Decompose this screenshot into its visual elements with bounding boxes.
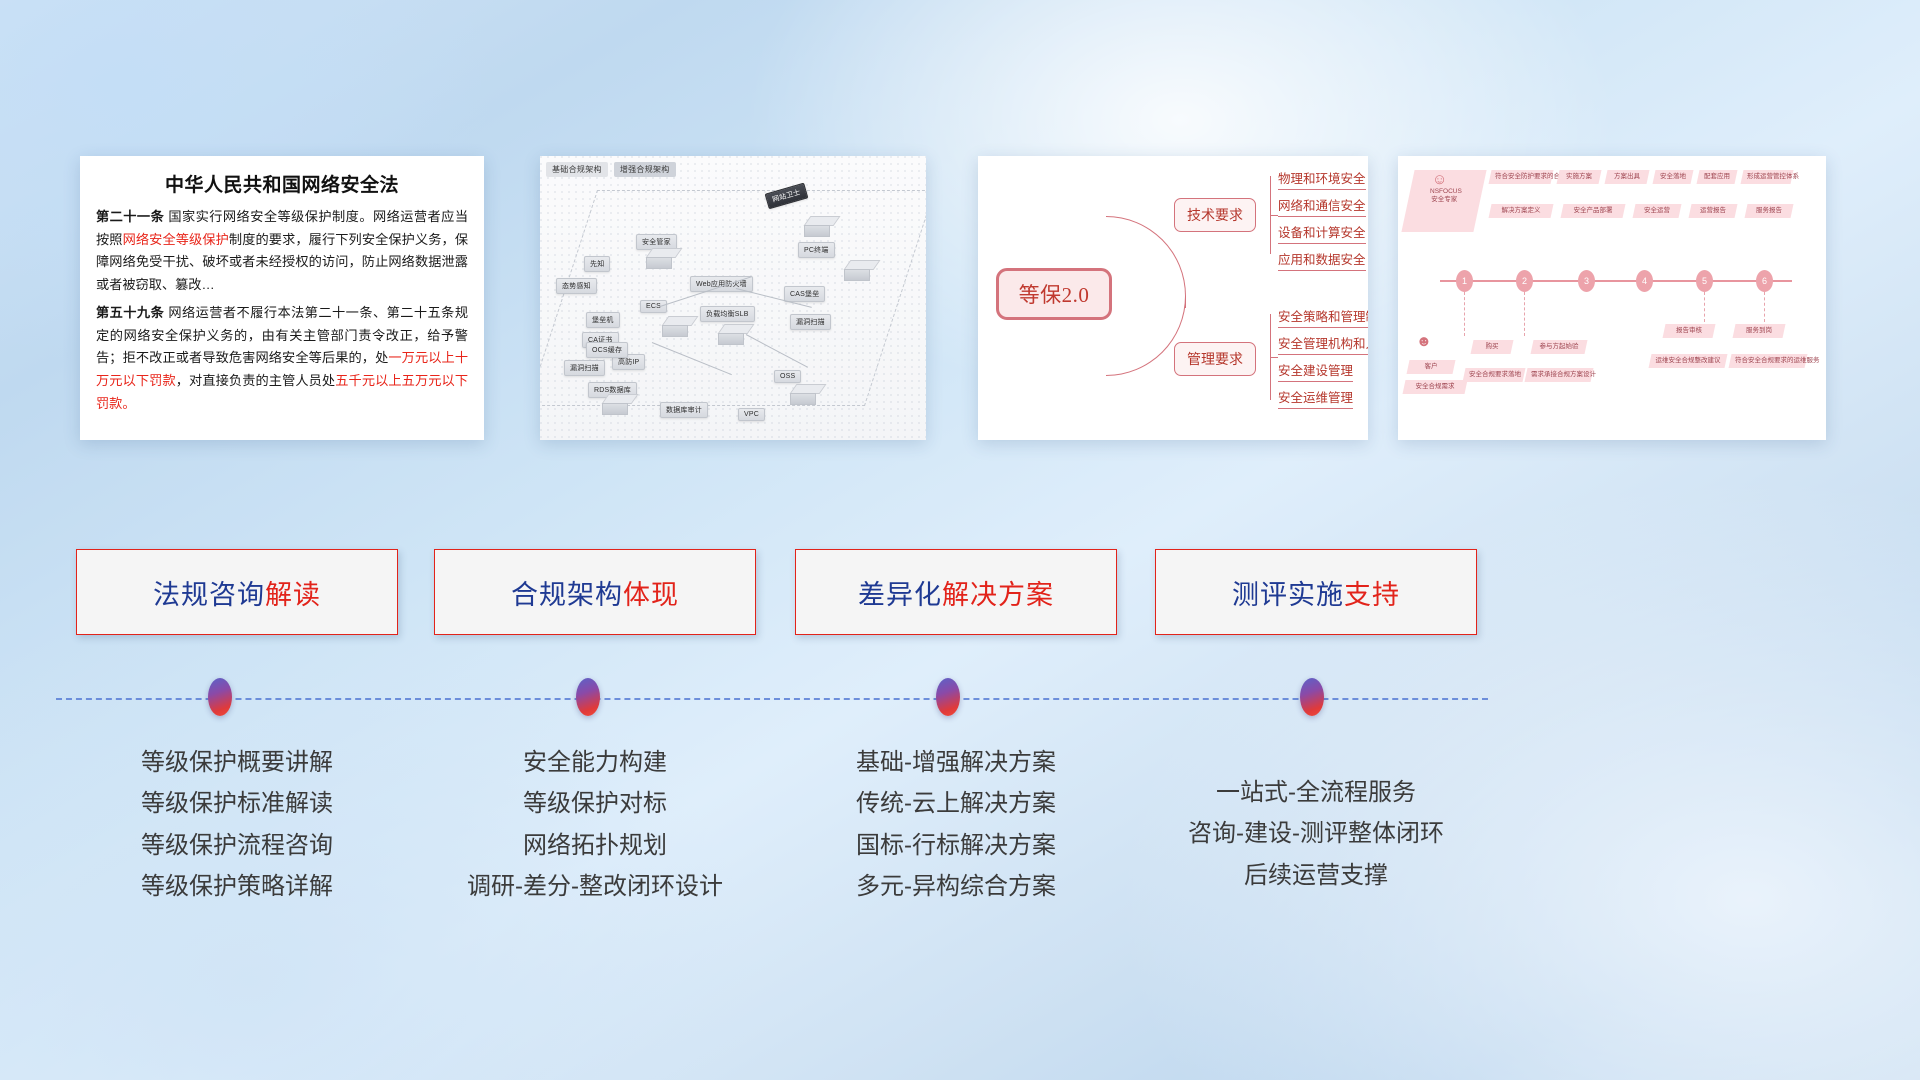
list-item: 等级保护流程咨询 [76, 825, 398, 866]
law-title: 中华人民共和国网络安全法 [96, 170, 468, 197]
top-chip-3: 方案出具 [1604, 170, 1649, 184]
stage-chip-4-label: 运营报告 [1695, 207, 1731, 215]
timeline-marker-2[interactable] [576, 678, 600, 716]
law-document: 中华人民共和国网络安全法 第二十一条 国家实行网络安全等级保护制度。网络运营者应… [80, 156, 484, 425]
tab-basic-architecture[interactable]: 基础合规架构 [546, 162, 608, 177]
arch-node-cas: CAS堡垒 [784, 286, 825, 302]
customer-need-chip: 安全合规需求 [1402, 380, 1467, 394]
arch-cube-icon-3 [842, 260, 872, 282]
timeline-marker-4[interactable] [1300, 678, 1324, 716]
architecture-tabs: 基础合规架构 增强合规架构 [546, 162, 676, 177]
law-article-59: 第五十九条 网络运营者不履行本法第二十一条、第二十五条规定的网络安全保护义务的，… [96, 302, 468, 416]
timeline-step-6: 6 [1756, 270, 1773, 292]
list-item: 传统-云上解决方案 [795, 783, 1117, 824]
stage-chip-3-label: 安全运营 [1639, 207, 1675, 215]
customer-chip: 客户 [1406, 360, 1455, 374]
list-item: 后续运营支撑 [1155, 855, 1477, 896]
headline-1-red: 解读 [265, 580, 321, 610]
arch-node-ocs: OCS缓存 [586, 342, 628, 358]
mindmap-leaf-org: 安全管理机构和人员 [1278, 333, 1368, 355]
timeline-marker-1[interactable] [208, 678, 232, 716]
preview-card-row: 中华人民共和国网络安全法 第二十一条 国家实行网络安全等级保护制度。网络运营者应… [0, 156, 1920, 441]
list-item: 咨询-建设-测评整体闭环 [1155, 813, 1477, 854]
page-root: 中华人民共和国网络安全法 第二十一条 国家实行网络安全等级保护制度。网络运营者应… [0, 0, 1920, 1080]
arch-node-slb: 负载均衡SLB [700, 306, 755, 322]
arch-cube-icon-2 [802, 216, 832, 238]
arch-node-ecs: ECS [640, 300, 667, 313]
customer-need-chip-label: 安全合规需求 [1409, 383, 1461, 391]
timeline-dash-5 [1704, 292, 1705, 322]
headline-text-2: 合规架构体现 [511, 573, 679, 612]
headline-3-blue: 差异化 [858, 580, 942, 610]
list-item: 多元-异构综合方案 [795, 866, 1117, 907]
top-chip-3-label: 方案出具 [1611, 173, 1643, 181]
headline-text-3: 差异化解决方案 [858, 573, 1054, 612]
bottom-chip-review-sub: 运维安全合规整改建议 [1648, 354, 1727, 368]
mindmap-branch-technical: 技术要求 [1174, 198, 1256, 232]
mindmap-leaf-physical: 物理和环境安全 [1278, 168, 1366, 190]
arch-node-db-audit: 数据库审计 [660, 402, 708, 418]
mindmap-leaf-device: 设备和计算安全 [1278, 222, 1366, 244]
stage-chip-5-label: 服务报告 [1751, 207, 1787, 215]
stage-chip-2-label: 安全产品部署 [1567, 207, 1619, 215]
headline-2-blue: 合规架构 [511, 580, 623, 610]
arch-node-oss: OSS [774, 370, 801, 383]
bottom-chip-join-label: 参与方起始验 [1537, 343, 1581, 351]
timeline-step-5: 5 [1696, 270, 1713, 292]
timeline-dashed-rail [56, 698, 1488, 700]
stage-chip-2: 安全产品部署 [1560, 204, 1625, 218]
list-item: 等级保护对标 [434, 783, 756, 824]
customer-person-icon: ☻ [1416, 334, 1432, 349]
mindmap-arc-top [1106, 216, 1186, 308]
arch-cube-icon-6 [788, 384, 818, 406]
stage-chip-4: 运营报告 [1688, 204, 1737, 218]
headline-text-4: 测评实施支持 [1232, 573, 1400, 612]
arch-node-pc-terminal: PC终端 [798, 242, 835, 258]
expert-label-line2: 安全专家 [1413, 196, 1475, 204]
headline-box-compliance-architecture[interactable]: 合规架构体现 [434, 549, 756, 635]
timeline-rail [1440, 280, 1792, 282]
card-dengbao-mindmap[interactable]: 等保2.0 技术要求 管理要求 物理和环境安全 网络和通信安全 设备和计算安全 … [978, 156, 1368, 440]
bottom-chip-onsite: 服务到岗 [1732, 324, 1785, 338]
bottom-chip-join: 参与方起始验 [1530, 340, 1587, 354]
card-compliance-architecture[interactable]: 基础合规架构 增强合规架构 网站卫士 安全管家 先知 态势感知 堡垒机 漏洞扫描… [540, 156, 926, 440]
service-timeline-graphic: NSFOCUS 安全专家 ☺ 符合安全防护要求的合法性 实施方案 方案出具 安全… [1398, 156, 1826, 440]
architecture-diagram: 基础合规架构 增强合规架构 网站卫士 安全管家 先知 态势感知 堡垒机 漏洞扫描… [540, 156, 926, 440]
list-item: 调研-差分-整改闭环设计 [434, 866, 756, 907]
bottom-chip-join-sub: 需求承接合规方案设计 [1524, 368, 1593, 382]
top-chip-1: 符合安全防护要求的合法性 [1488, 170, 1553, 184]
top-chip-6-label: 形成运营管控体系 [1747, 173, 1787, 181]
headline-4-blue: 测评实施 [1232, 580, 1344, 610]
timeline-step-2: 2 [1516, 270, 1533, 292]
bottom-chip-buy-sub-label: 安全合规要求落地 [1469, 371, 1519, 379]
mindmap-leaf-build: 安全建设管理 [1278, 360, 1353, 382]
top-chip-4: 安全落地 [1652, 170, 1693, 184]
headline-box-differentiated-solution[interactable]: 差异化解决方案 [795, 549, 1117, 635]
bottom-chip-join-sub-label: 需求承接合规方案设计 [1531, 371, 1587, 379]
bottom-chip-onsite-sub: 符合安全合规要求的运维服务 [1728, 354, 1807, 368]
top-chip-6: 形成运营管控体系 [1740, 170, 1793, 184]
list-item: 基础-增强解决方案 [795, 742, 1117, 783]
timeline-step-1: 1 [1456, 270, 1473, 292]
capability-column-4: 一站式-全流程服务 咨询-建设-测评整体闭环 后续运营支撑 [1155, 772, 1477, 896]
list-item: 安全能力构建 [434, 742, 756, 783]
headline-row: 法规咨询解读 合规架构体现 差异化解决方案 测评实施支持 [0, 549, 1920, 635]
arch-node-awareness: 态势感知 [556, 278, 597, 294]
arch-node-prophet: 先知 [584, 256, 610, 272]
top-chip-2-label: 实施方案 [1563, 173, 1595, 181]
bottom-chip-review-label: 报告审核 [1669, 327, 1709, 335]
top-chip-2: 实施方案 [1556, 170, 1601, 184]
headline-text-1: 法规咨询解读 [153, 573, 321, 612]
law-article-21: 第二十一条 国家实行网络安全等级保护制度。网络运营者应当按照网络安全等级保护制度… [96, 206, 468, 297]
bottom-chip-review-sub-label: 运维安全合规整改建议 [1655, 357, 1721, 365]
bottom-chip-buy: 购买 [1470, 340, 1513, 354]
mindmap: 等保2.0 技术要求 管理要求 物理和环境安全 网络和通信安全 设备和计算安全 … [978, 156, 1368, 440]
mindmap-leaf-policy: 安全策略和管理制度 [1278, 306, 1368, 328]
headline-1-blue: 法规咨询 [153, 580, 265, 610]
bottom-chip-buy-sub: 安全合规要求落地 [1462, 368, 1525, 382]
bottom-chip-onsite-label: 服务到岗 [1739, 327, 1779, 335]
arch-cube-icon-7 [600, 394, 630, 416]
bottom-chip-onsite-sub-label: 符合安全合规要求的运维服务 [1735, 357, 1801, 365]
arch-node-vuln-scan: 漏洞扫描 [564, 360, 605, 376]
list-item: 等级保护标准解读 [76, 783, 398, 824]
stage-chip-1-label: 解决方案定义 [1495, 207, 1547, 215]
arch-cube-icon-1 [644, 248, 674, 270]
stage-chip-3: 安全运营 [1632, 204, 1681, 218]
law-article-21-highlight: 网络安全等级保护 [123, 232, 229, 247]
tab-enhanced-architecture[interactable]: 增强合规架构 [614, 162, 676, 177]
timeline-dash-6 [1764, 292, 1765, 322]
card-cybersecurity-law[interactable]: 中华人民共和国网络安全法 第二十一条 国家实行网络安全等级保护制度。网络运营者应… [80, 156, 484, 440]
law-article-21-label: 第二十一条 [96, 209, 164, 224]
capability-column-3: 基础-增强解决方案 传统-云上解决方案 国标-行标解决方案 多元-异构综合方案 [795, 742, 1117, 907]
arch-node-scan-2: 漏洞扫描 [790, 314, 831, 330]
mindmap-leaf-network: 网络和通信安全 [1278, 195, 1366, 217]
arch-cube-icon-4 [660, 316, 690, 338]
list-item: 一站式-全流程服务 [1155, 772, 1477, 813]
card-service-timeline[interactable]: NSFOCUS 安全专家 ☺ 符合安全防护要求的合法性 实施方案 方案出具 安全… [1398, 156, 1826, 440]
top-chip-1-label: 符合安全防护要求的合法性 [1495, 173, 1547, 181]
mindmap-hook-management [1270, 357, 1278, 358]
mindmap-branch-management: 管理要求 [1174, 342, 1256, 376]
list-item: 等级保护策略详解 [76, 866, 398, 907]
mindmap-leaf-ops: 安全运维管理 [1278, 387, 1353, 409]
list-item: 国标-行标解决方案 [795, 825, 1117, 866]
top-chip-4-label: 安全落地 [1659, 173, 1687, 181]
mindmap-root-node: 等保2.0 [996, 268, 1112, 320]
expert-label-line1: NSFOCUS [1415, 188, 1477, 196]
list-item: 网络拓扑规划 [434, 825, 756, 866]
law-article-59-label: 第五十九条 [96, 305, 164, 320]
stage-chip-5: 服务报告 [1744, 204, 1793, 218]
timeline-step-4: 4 [1636, 270, 1653, 292]
expert-person-icon: ☺ [1432, 172, 1447, 187]
mindmap-hook-technical [1270, 215, 1278, 216]
headline-4-red: 支持 [1344, 580, 1400, 610]
timeline-dash-2 [1524, 292, 1525, 336]
arch-node-bastion: 堡垒机 [586, 312, 620, 328]
headline-box-assessment-support[interactable]: 测评实施支持 [1155, 549, 1477, 635]
headline-3-red: 解决方案 [942, 580, 1054, 610]
headline-box-regulation-consulting[interactable]: 法规咨询解读 [76, 549, 398, 635]
top-chip-5-label: 配套应用 [1703, 173, 1731, 181]
capability-column-1: 等级保护概要讲解 等级保护标准解读 等级保护流程咨询 等级保护策略详解 [76, 742, 398, 907]
timeline-marker-3[interactable] [936, 678, 960, 716]
headline-2-red: 体现 [623, 580, 679, 610]
mindmap-leaf-application: 应用和数据安全 [1278, 249, 1366, 271]
arch-node-vpc: VPC [738, 408, 765, 421]
stage-chip-1: 解决方案定义 [1488, 204, 1553, 218]
timeline-dash-1 [1464, 292, 1465, 336]
bottom-chip-buy-label: 购买 [1477, 343, 1507, 351]
capability-column-2: 安全能力构建 等级保护对标 网络拓扑规划 调研-差分-整改闭环设计 [434, 742, 756, 907]
top-chip-5: 配套应用 [1696, 170, 1737, 184]
bottom-chip-review: 报告审核 [1662, 324, 1715, 338]
timeline-step-3: 3 [1578, 270, 1595, 292]
law-article-59-mid: ，对直接负责的主管人员处 [176, 373, 335, 388]
list-item: 等级保护概要讲解 [76, 742, 398, 783]
arch-cube-icon-5 [716, 324, 746, 346]
customer-chip-label: 客户 [1413, 363, 1449, 371]
